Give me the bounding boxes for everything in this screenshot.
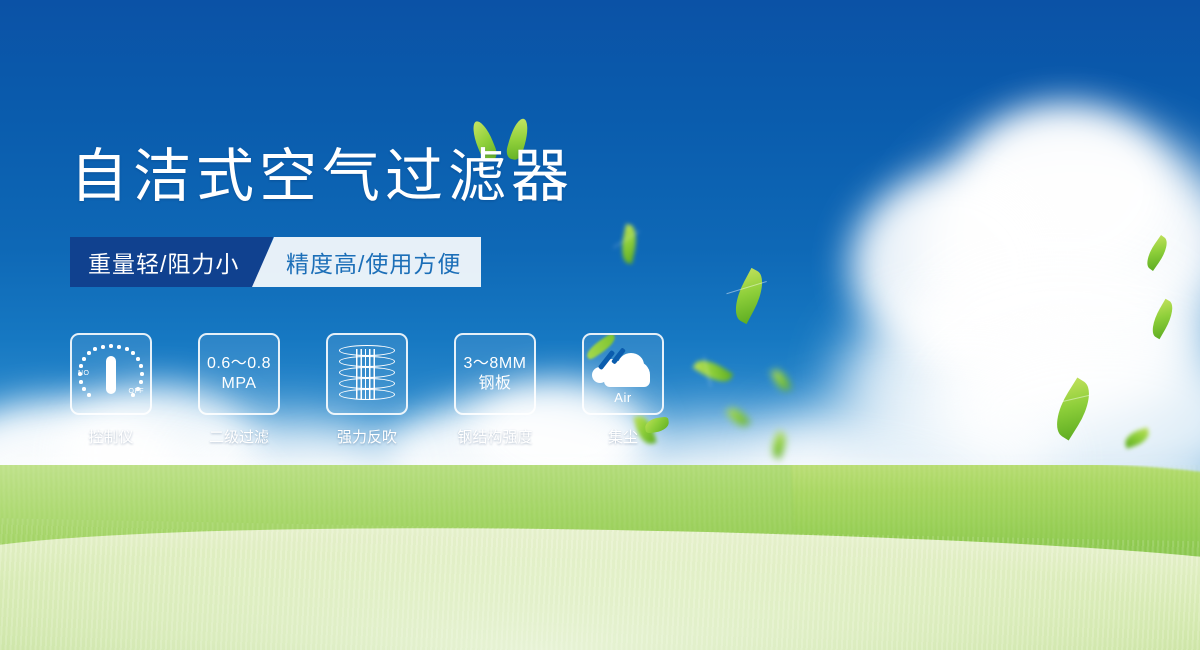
control-dial-icon: NO OFF — [79, 344, 143, 404]
feature-label: 钢结构强度 — [457, 426, 532, 447]
feature-label: 控制仪 — [88, 426, 133, 447]
dial-off-label: OFF — [129, 388, 145, 395]
steel-plate-text-icon: 3〜8MM 钢板 — [464, 354, 527, 394]
pressure-unit: MPA — [207, 374, 271, 394]
product-hero-banner: 自洁式空气过滤器 重量轻/阻力小 精度高/使用方便 — [0, 0, 1200, 650]
pressure-text-icon: 0.6〜0.8 MPA — [207, 354, 271, 394]
feature-label: 强力反吹 — [337, 426, 397, 447]
steel-thickness: 3〜8MM — [464, 354, 527, 374]
air-cloud-icon: Air — [590, 347, 656, 401]
feature-label: 二级过滤 — [209, 426, 269, 447]
steel-material: 钢板 — [464, 374, 527, 394]
subtitle-left-text: 重量轻/阻力小 — [88, 245, 239, 279]
air-label: Air — [590, 390, 656, 405]
feature-list: NO OFF 控制仪 0.6〜0.8 MPA 二级过滤 — [70, 333, 664, 447]
subtitle-left-panel: 重量轻/阻力小 — [70, 237, 273, 287]
filter-coil-icon — [339, 345, 395, 403]
feature-icon-box: NO OFF — [70, 333, 152, 415]
feature-icon-box: 3〜8MM 钢板 — [454, 333, 536, 415]
feature-label: 集尘 — [608, 426, 638, 447]
leaf-icon — [584, 333, 618, 361]
subtitle-right-panel: 精度高/使用方便 — [252, 237, 481, 287]
dial-needle — [106, 356, 116, 394]
dial-on-label: NO — [78, 370, 90, 377]
feature-item-control[interactable]: NO OFF 控制仪 — [70, 333, 152, 447]
feature-item-steel[interactable]: 3〜8MM 钢板 钢结构强度 — [454, 333, 536, 447]
feature-icon-box: 0.6〜0.8 MPA — [198, 333, 280, 415]
feature-item-backblow[interactable]: 强力反吹 — [326, 333, 408, 447]
grass-highlight — [0, 530, 1200, 650]
page-title: 自洁式空气过滤器 — [70, 141, 574, 213]
feature-icon-box: Air — [582, 333, 664, 415]
feature-icon-box — [326, 333, 408, 415]
subtitle-right-text: 精度高/使用方便 — [286, 245, 461, 279]
pressure-range: 0.6〜0.8 — [207, 354, 271, 374]
grass-field — [0, 465, 1200, 650]
feature-item-pressure[interactable]: 0.6〜0.8 MPA 二级过滤 — [198, 333, 280, 447]
